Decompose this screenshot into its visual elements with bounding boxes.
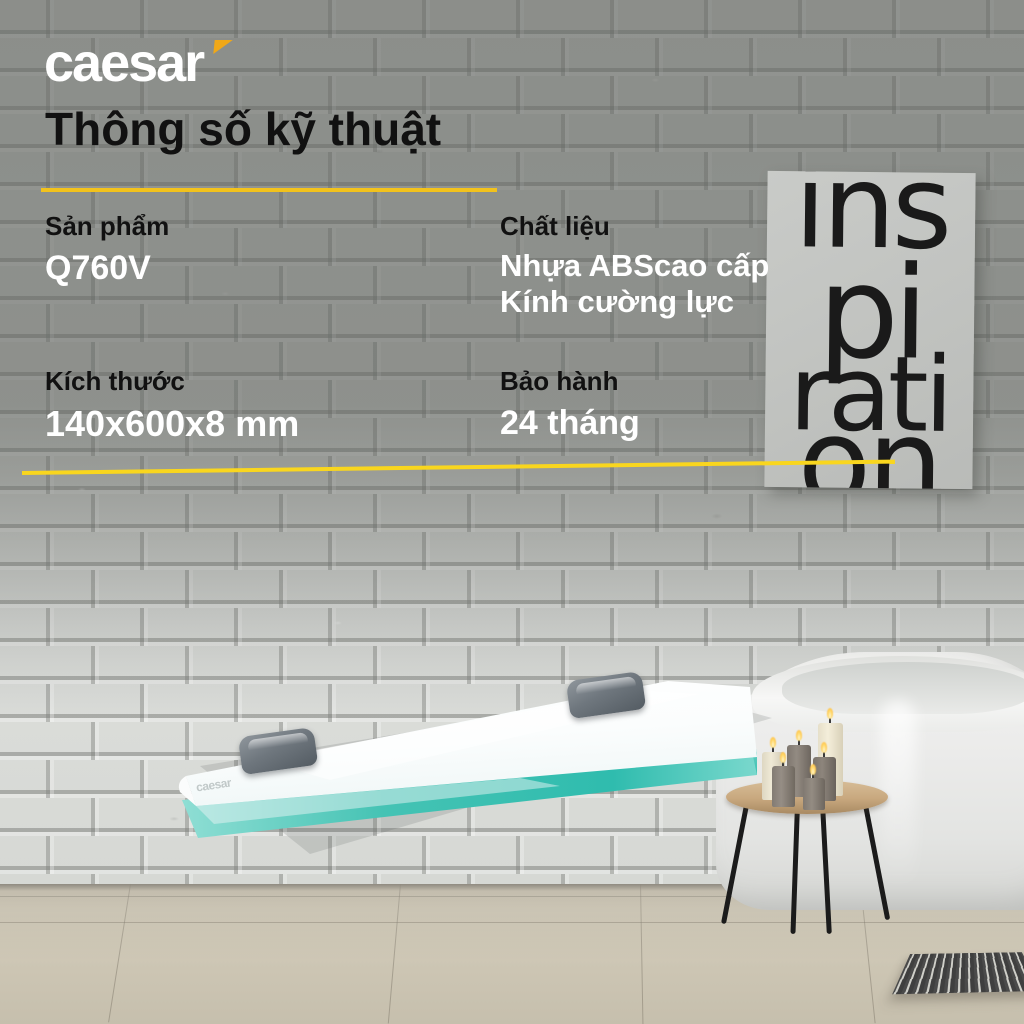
spec-label: Chất liệu <box>500 212 769 242</box>
divider-top <box>41 188 497 192</box>
spec-value: 24 tháng <box>500 403 640 443</box>
spec-material: Chất liệu Nhựa ABScao cấp Kính cường lực <box>500 212 769 321</box>
spec-value: Nhựa ABScao cấp <box>500 248 769 285</box>
spec-product: Sản phẩm Q760V <box>45 212 169 288</box>
spec-label: Bảo hành <box>500 367 640 397</box>
spec-label: Kích thước <box>45 367 299 397</box>
logo-accent-icon <box>213 40 232 54</box>
page-title: Thông số kỹ thuật <box>45 104 441 155</box>
product-spec-image: ins pi rati on <box>0 0 1024 1024</box>
spec-label: Sản phẩm <box>45 212 169 242</box>
spec-warranty: Bảo hành 24 tháng <box>500 367 640 443</box>
spec-value: Q760V <box>45 248 169 288</box>
spec-value: 140x600x8 mm <box>45 403 299 445</box>
spec-value-secondary: Kính cường lực <box>500 284 769 321</box>
caesar-logo: caesar <box>44 36 203 90</box>
spec-dimensions: Kích thước 140x600x8 mm <box>45 367 299 445</box>
